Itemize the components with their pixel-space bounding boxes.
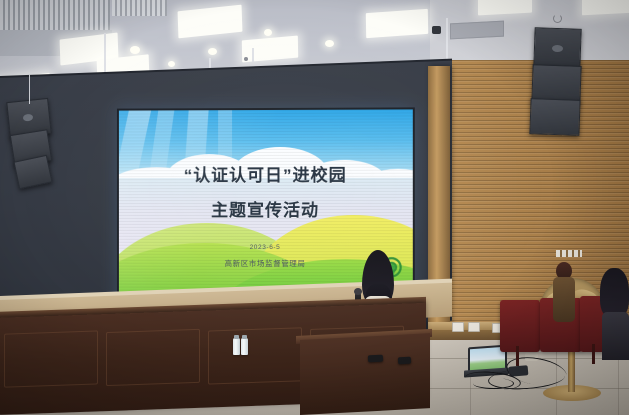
ceiling-hook	[553, 14, 562, 23]
ceiling-panel-light	[366, 9, 428, 38]
security-camera	[432, 26, 441, 34]
speaker-suspension-rod	[252, 48, 254, 62]
ceiling-air-vent-secondary	[112, 0, 167, 16]
desk-microphone[interactable]	[368, 355, 383, 363]
bottle-cap	[234, 335, 239, 339]
ceiling-downlight	[208, 48, 217, 55]
speaker-cable	[29, 74, 30, 104]
chair-leg	[516, 346, 519, 366]
wall-power-socket[interactable]	[452, 322, 464, 332]
water-bottles[interactable]	[241, 338, 248, 355]
person-body	[602, 312, 629, 360]
ceiling-air-vent-panel	[450, 21, 504, 40]
wall-sign	[556, 250, 582, 257]
podium-panel	[208, 327, 302, 384]
microphone-head	[354, 288, 362, 295]
presentation-hall-photo: “认证认可日”进校园 主题宣传活动 2023-6-5 高新区市场监督管理局	[0, 0, 629, 415]
ceiling-downlight	[168, 61, 175, 67]
line-array-speaker	[529, 98, 580, 136]
audience-member-seated	[600, 268, 629, 360]
speaker-suspension-rod	[104, 33, 106, 75]
ceiling-sprinkler	[244, 57, 248, 61]
person-body	[553, 277, 575, 322]
water-bottles[interactable]	[233, 338, 240, 355]
desk-microphone[interactable]	[398, 357, 411, 365]
person-hair	[600, 268, 629, 318]
slide-title-line-1: “认证认可日”进校园	[119, 161, 413, 186]
ceiling-downlight	[325, 40, 334, 47]
podium-desk-right	[300, 333, 430, 415]
ceiling-panel-light	[582, 0, 629, 15]
line-array-speaker	[533, 27, 581, 69]
audience-member-standing	[553, 262, 575, 320]
slide-title-line-2: 主题宣传活动	[119, 196, 413, 221]
ceiling-downlight	[130, 46, 140, 54]
podium-panel	[106, 329, 200, 386]
ceiling-downlight	[264, 29, 272, 36]
audience-chair[interactable]	[500, 300, 540, 352]
bottle-cap	[242, 335, 247, 339]
ceiling-air-vent	[0, 0, 110, 32]
power-cable	[473, 378, 514, 389]
wall-power-socket[interactable]	[468, 322, 480, 332]
chair-leg	[592, 344, 595, 364]
podium-panel	[4, 330, 98, 387]
speaker-port	[23, 114, 34, 122]
speaker-port	[552, 45, 563, 52]
